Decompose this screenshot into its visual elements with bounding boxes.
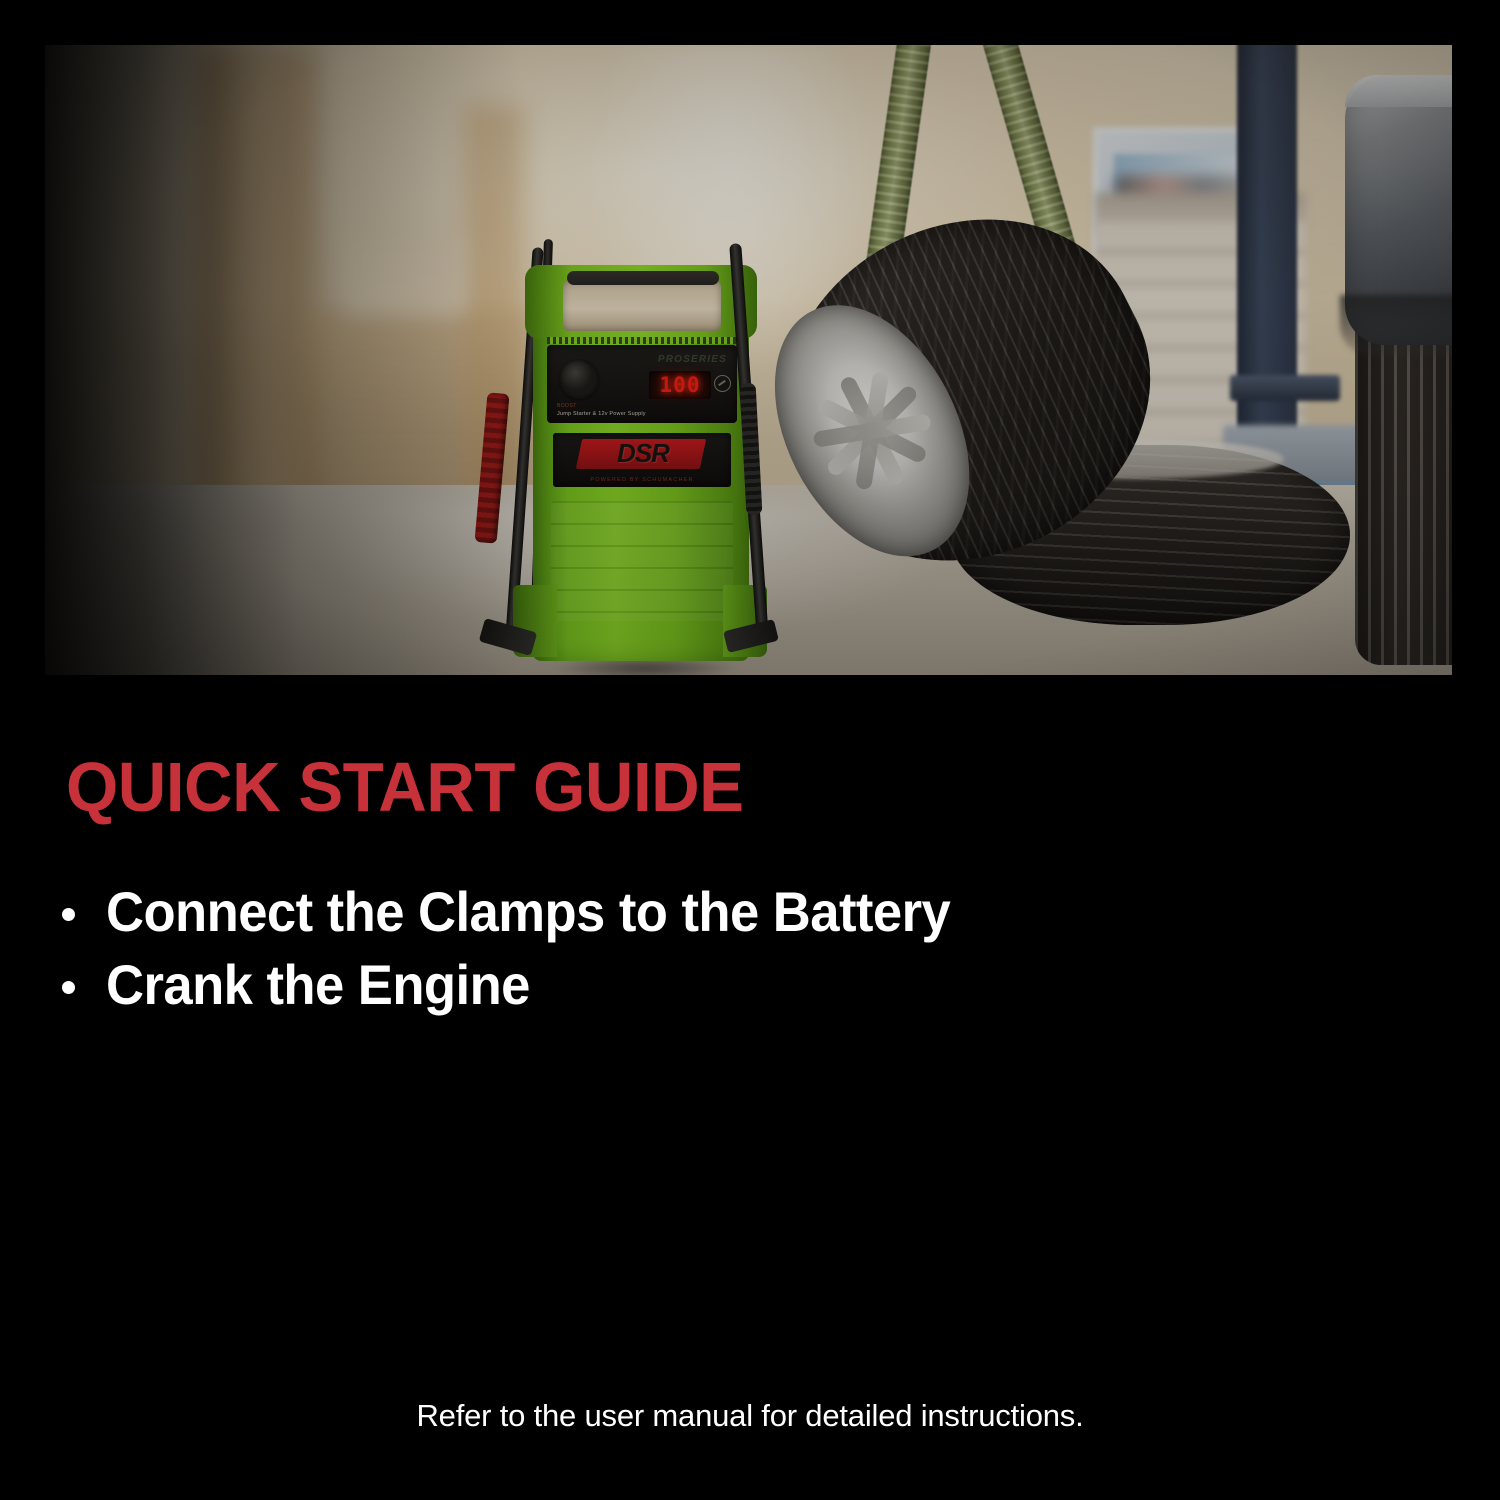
power-knob-label: BOOST: [557, 403, 577, 409]
device-sub-label: Jump Starter & 12v Power Supply: [557, 411, 646, 417]
steps-list: Connect the Clamps to the Battery Crank …: [62, 880, 1462, 1027]
garage-scene: BOOST PROSERIES 100 Jump Starter & 12v P…: [45, 45, 1452, 675]
device-handle-opening: [563, 281, 721, 331]
positive-clamp-handle: [475, 392, 510, 543]
hero-product-photo: BOOST PROSERIES 100 Jump Starter & 12v P…: [45, 45, 1452, 675]
car-chrome-trim: [1345, 75, 1452, 107]
brand-tagline: POWERED BY SCHUMACHER: [553, 477, 731, 483]
charge-level-display: 100: [649, 371, 711, 399]
device-housing-ribs: [551, 501, 733, 621]
battery-percent-icon: [714, 375, 731, 392]
brand-logo-text: DSR: [573, 437, 713, 469]
page-title: QUICK START GUIDE: [66, 752, 744, 822]
bullet-dot-icon: [62, 908, 75, 921]
list-item: Connect the Clamps to the Battery: [62, 880, 1462, 943]
step-label: Connect the Clamps to the Battery: [106, 880, 950, 943]
power-knob[interactable]: [559, 359, 599, 399]
list-item: Crank the Engine: [62, 953, 1462, 1016]
jump-starter-device: BOOST PROSERIES 100 Jump Starter & 12v P…: [475, 233, 805, 663]
device-carry-handle: [567, 271, 719, 285]
brand-logo-plate: DSR POWERED BY SCHUMACHER: [553, 433, 731, 487]
quick-start-guide-page: BOOST PROSERIES 100 Jump Starter & 12v P…: [0, 0, 1500, 1500]
vehicle-lift-arm: [1230, 375, 1340, 401]
step-label: Crank the Engine: [106, 953, 530, 1016]
bullet-dot-icon: [62, 981, 75, 994]
car-wheel-arch-shadow: [1340, 295, 1452, 355]
background-shelf-upper: [345, 235, 465, 315]
proseries-label: PROSERIES: [658, 354, 727, 365]
device-vent-slots: [547, 337, 737, 344]
footer-note: Refer to the user manual for detailed in…: [0, 1398, 1500, 1434]
device-control-panel: BOOST PROSERIES 100 Jump Starter & 12v P…: [547, 345, 737, 423]
charge-level-value: 100: [660, 373, 701, 397]
